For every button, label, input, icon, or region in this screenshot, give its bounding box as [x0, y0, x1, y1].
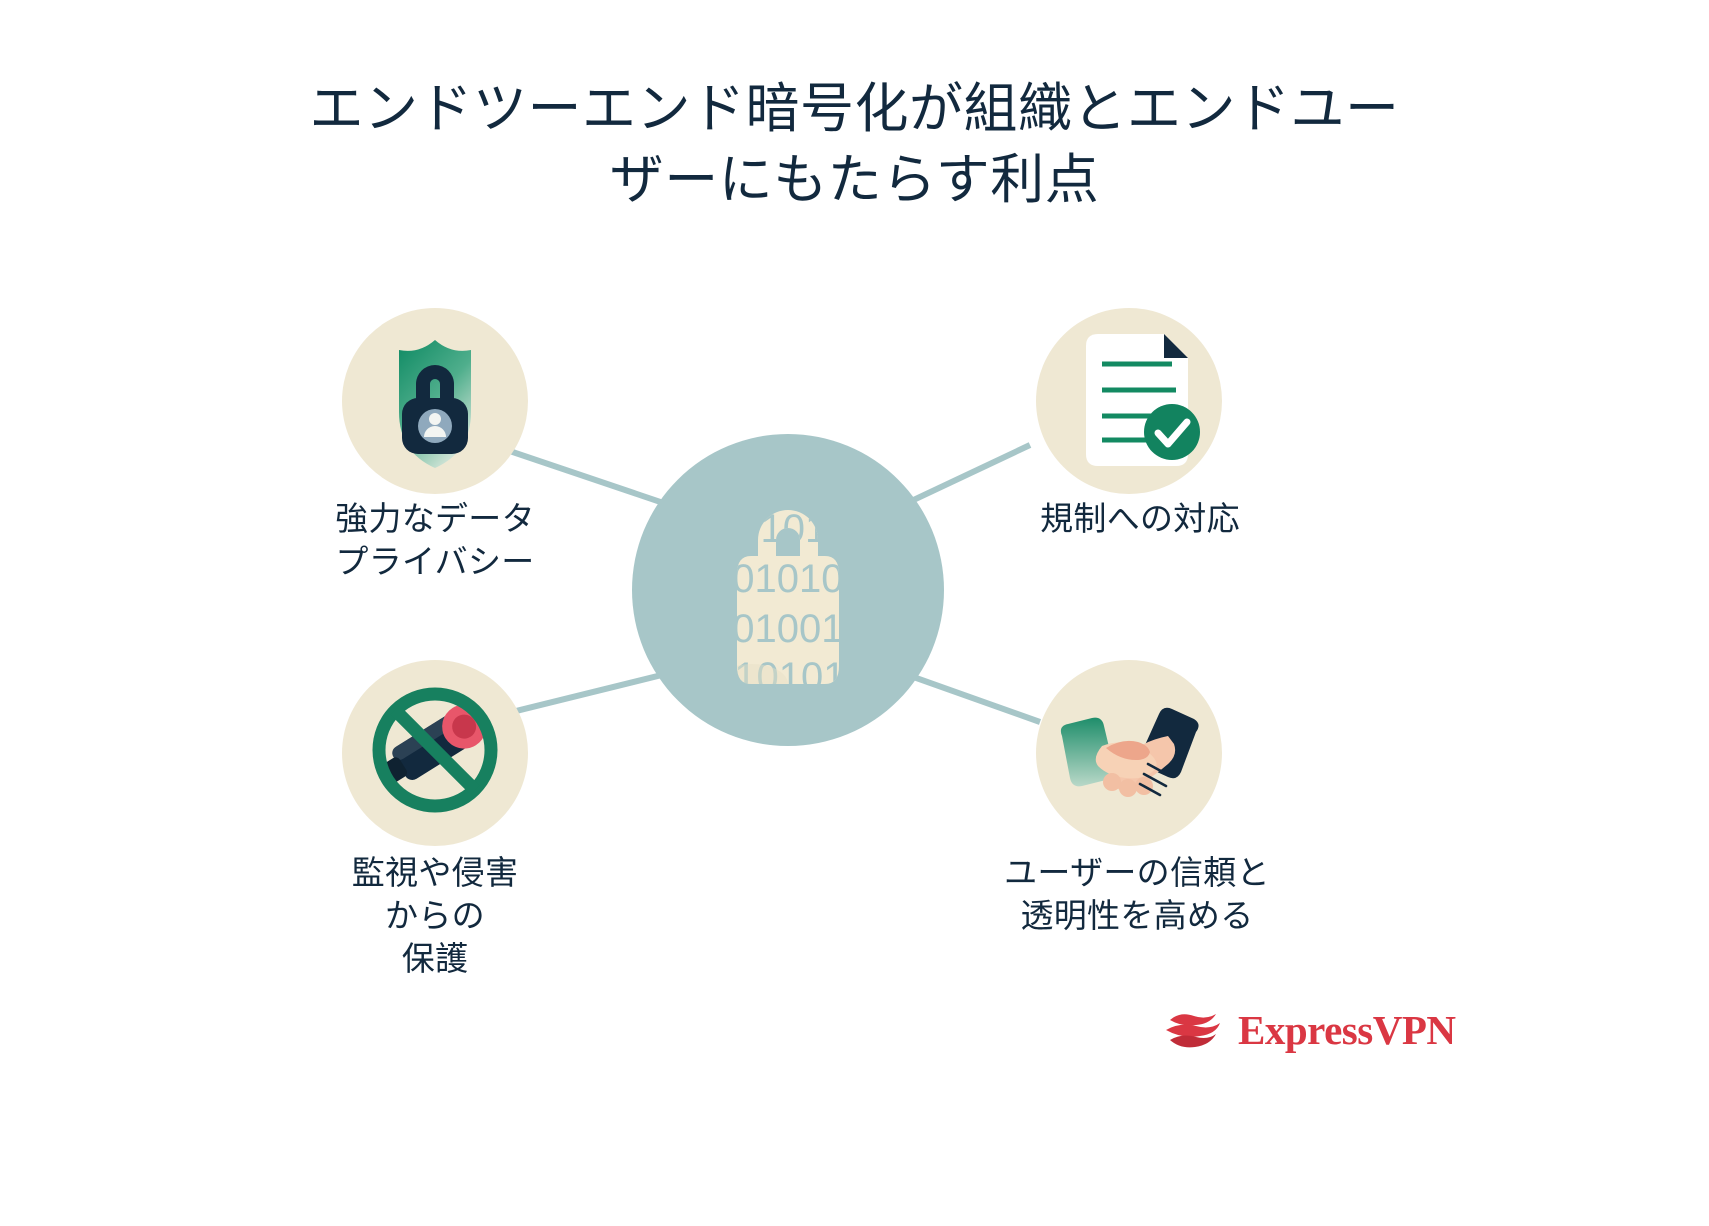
expressvpn-logo[interactable]: ExpressVPN — [1162, 1006, 1455, 1054]
expressvpn-logo-text: ExpressVPN — [1238, 1006, 1455, 1054]
no-surveillance-icon — [342, 660, 528, 846]
padlock-binary-icon: 101010 1010100 1010010 0101010 — [632, 434, 944, 746]
node-label-privacy: 強力なデータ プライバシー — [268, 498, 602, 584]
encryption-lock-hub: 101010 1010100 1010010 0101010 — [632, 434, 944, 746]
node-label-trust: ユーザーの信頼と 透明性を高める — [930, 852, 1344, 938]
node-icon-trust[interactable] — [1036, 660, 1222, 846]
node-icon-privacy[interactable] — [342, 308, 528, 494]
node-icon-compliance[interactable] — [1036, 308, 1222, 494]
handshake-icon — [1036, 660, 1222, 846]
expressvpn-logo-mark — [1162, 1006, 1224, 1054]
node-icon-protection[interactable] — [342, 660, 528, 846]
svg-text:1010100: 1010100 — [710, 557, 866, 601]
shield-lock-icon — [342, 308, 528, 494]
svg-text:101010: 101010 — [716, 507, 849, 551]
node-label-compliance: 規制への対応 — [950, 498, 1330, 541]
node-label-protection: 監視や侵害 からの 保護 — [268, 852, 602, 981]
svg-text:0101010: 0101010 — [712, 655, 868, 699]
svg-text:1010010: 1010010 — [710, 607, 866, 651]
document-check-icon — [1036, 308, 1222, 494]
